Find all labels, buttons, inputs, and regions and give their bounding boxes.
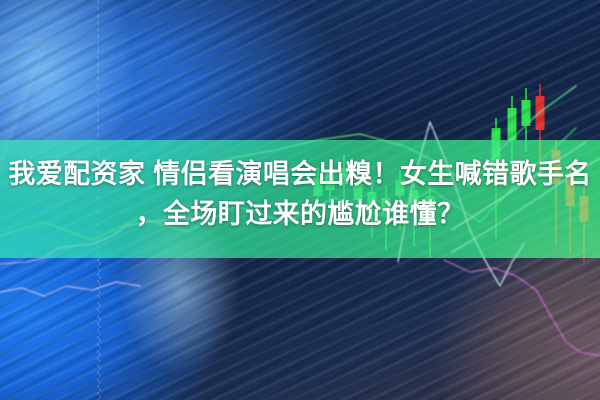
- banner-image: 我爱配资家 情侣看演唱会出糗！女生喊错歌手名 ，全场盯过来的尴尬谁懂？: [0, 0, 600, 400]
- headline-line-2: ，全场盯过来的尴尬谁懂？: [0, 194, 600, 234]
- headline-text: 我爱配资家 情侣看演唱会出糗！女生喊错歌手名 ，全场盯过来的尴尬谁懂？: [0, 154, 600, 234]
- headline-line-1: 我爱配资家 情侣看演唱会出糗！女生喊错歌手名: [0, 154, 600, 194]
